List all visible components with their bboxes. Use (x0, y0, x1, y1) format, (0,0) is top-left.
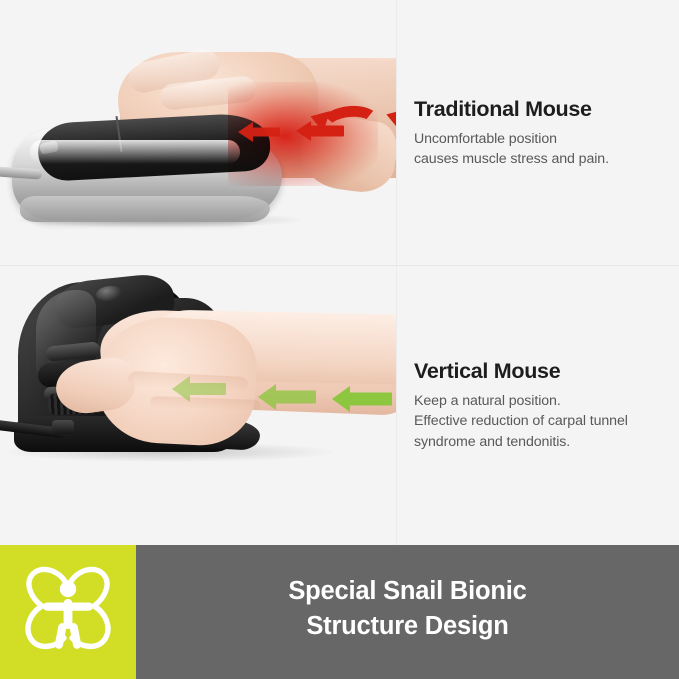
banner-title-box: Special Snail Bionic Structure Design (136, 545, 679, 679)
arrow-tail (182, 383, 226, 395)
body-line: causes muscle stress and pain. (414, 149, 665, 169)
scene-vertical (0, 266, 396, 545)
body-line: Effective reduction of carpal tunnel (414, 411, 665, 431)
mouse-cable (0, 166, 42, 179)
arrow-tail (248, 128, 280, 137)
brand-logo-box (0, 545, 136, 679)
relief-arrow-1 (172, 376, 234, 402)
panel-title-traditional: Traditional Mouse (414, 97, 665, 122)
panel-title-vertical: Vertical Mouse (414, 359, 665, 384)
figure-vertical-mouse (0, 266, 396, 545)
cable-clip (52, 420, 74, 434)
relief-arrow-3 (332, 386, 396, 412)
infographic-page: Traditional Mouse Uncomfortable position… (0, 0, 679, 679)
scene-traditional (0, 0, 396, 266)
butterfly-ergonomic-logo-icon (22, 560, 114, 664)
figure-traditional-mouse (0, 0, 396, 266)
relief-arrow-2 (258, 384, 324, 410)
body-line: Uncomfortable position (414, 129, 665, 149)
mouse-base (20, 196, 270, 222)
panel-vertical-mouse: Vertical Mouse Keep a natural position. … (0, 266, 679, 545)
arrow-tail (342, 393, 392, 406)
bottom-banner: Special Snail Bionic Structure Design (0, 545, 679, 679)
arrow-tail (268, 391, 316, 404)
pain-arrow-1 (238, 122, 282, 142)
panel-traditional-mouse: Traditional Mouse Uncomfortable position… (0, 0, 679, 266)
panel-body-vertical: Keep a natural position. Effective reduc… (414, 391, 665, 451)
banner-title-line-1: Special Snail Bionic (288, 574, 526, 609)
panel-body-traditional: Uncomfortable position causes muscle str… (414, 129, 665, 169)
body-line: syndrome and tendonitis. (414, 432, 665, 452)
banner-title-line-2: Structure Design (306, 609, 508, 644)
person-figure (43, 581, 93, 650)
copy-traditional-mouse: Traditional Mouse Uncomfortable position… (396, 0, 679, 266)
shell-highlight (30, 140, 240, 164)
body-line: Keep a natural position. (414, 391, 665, 411)
copy-vertical-mouse: Vertical Mouse Keep a natural position. … (396, 266, 679, 545)
